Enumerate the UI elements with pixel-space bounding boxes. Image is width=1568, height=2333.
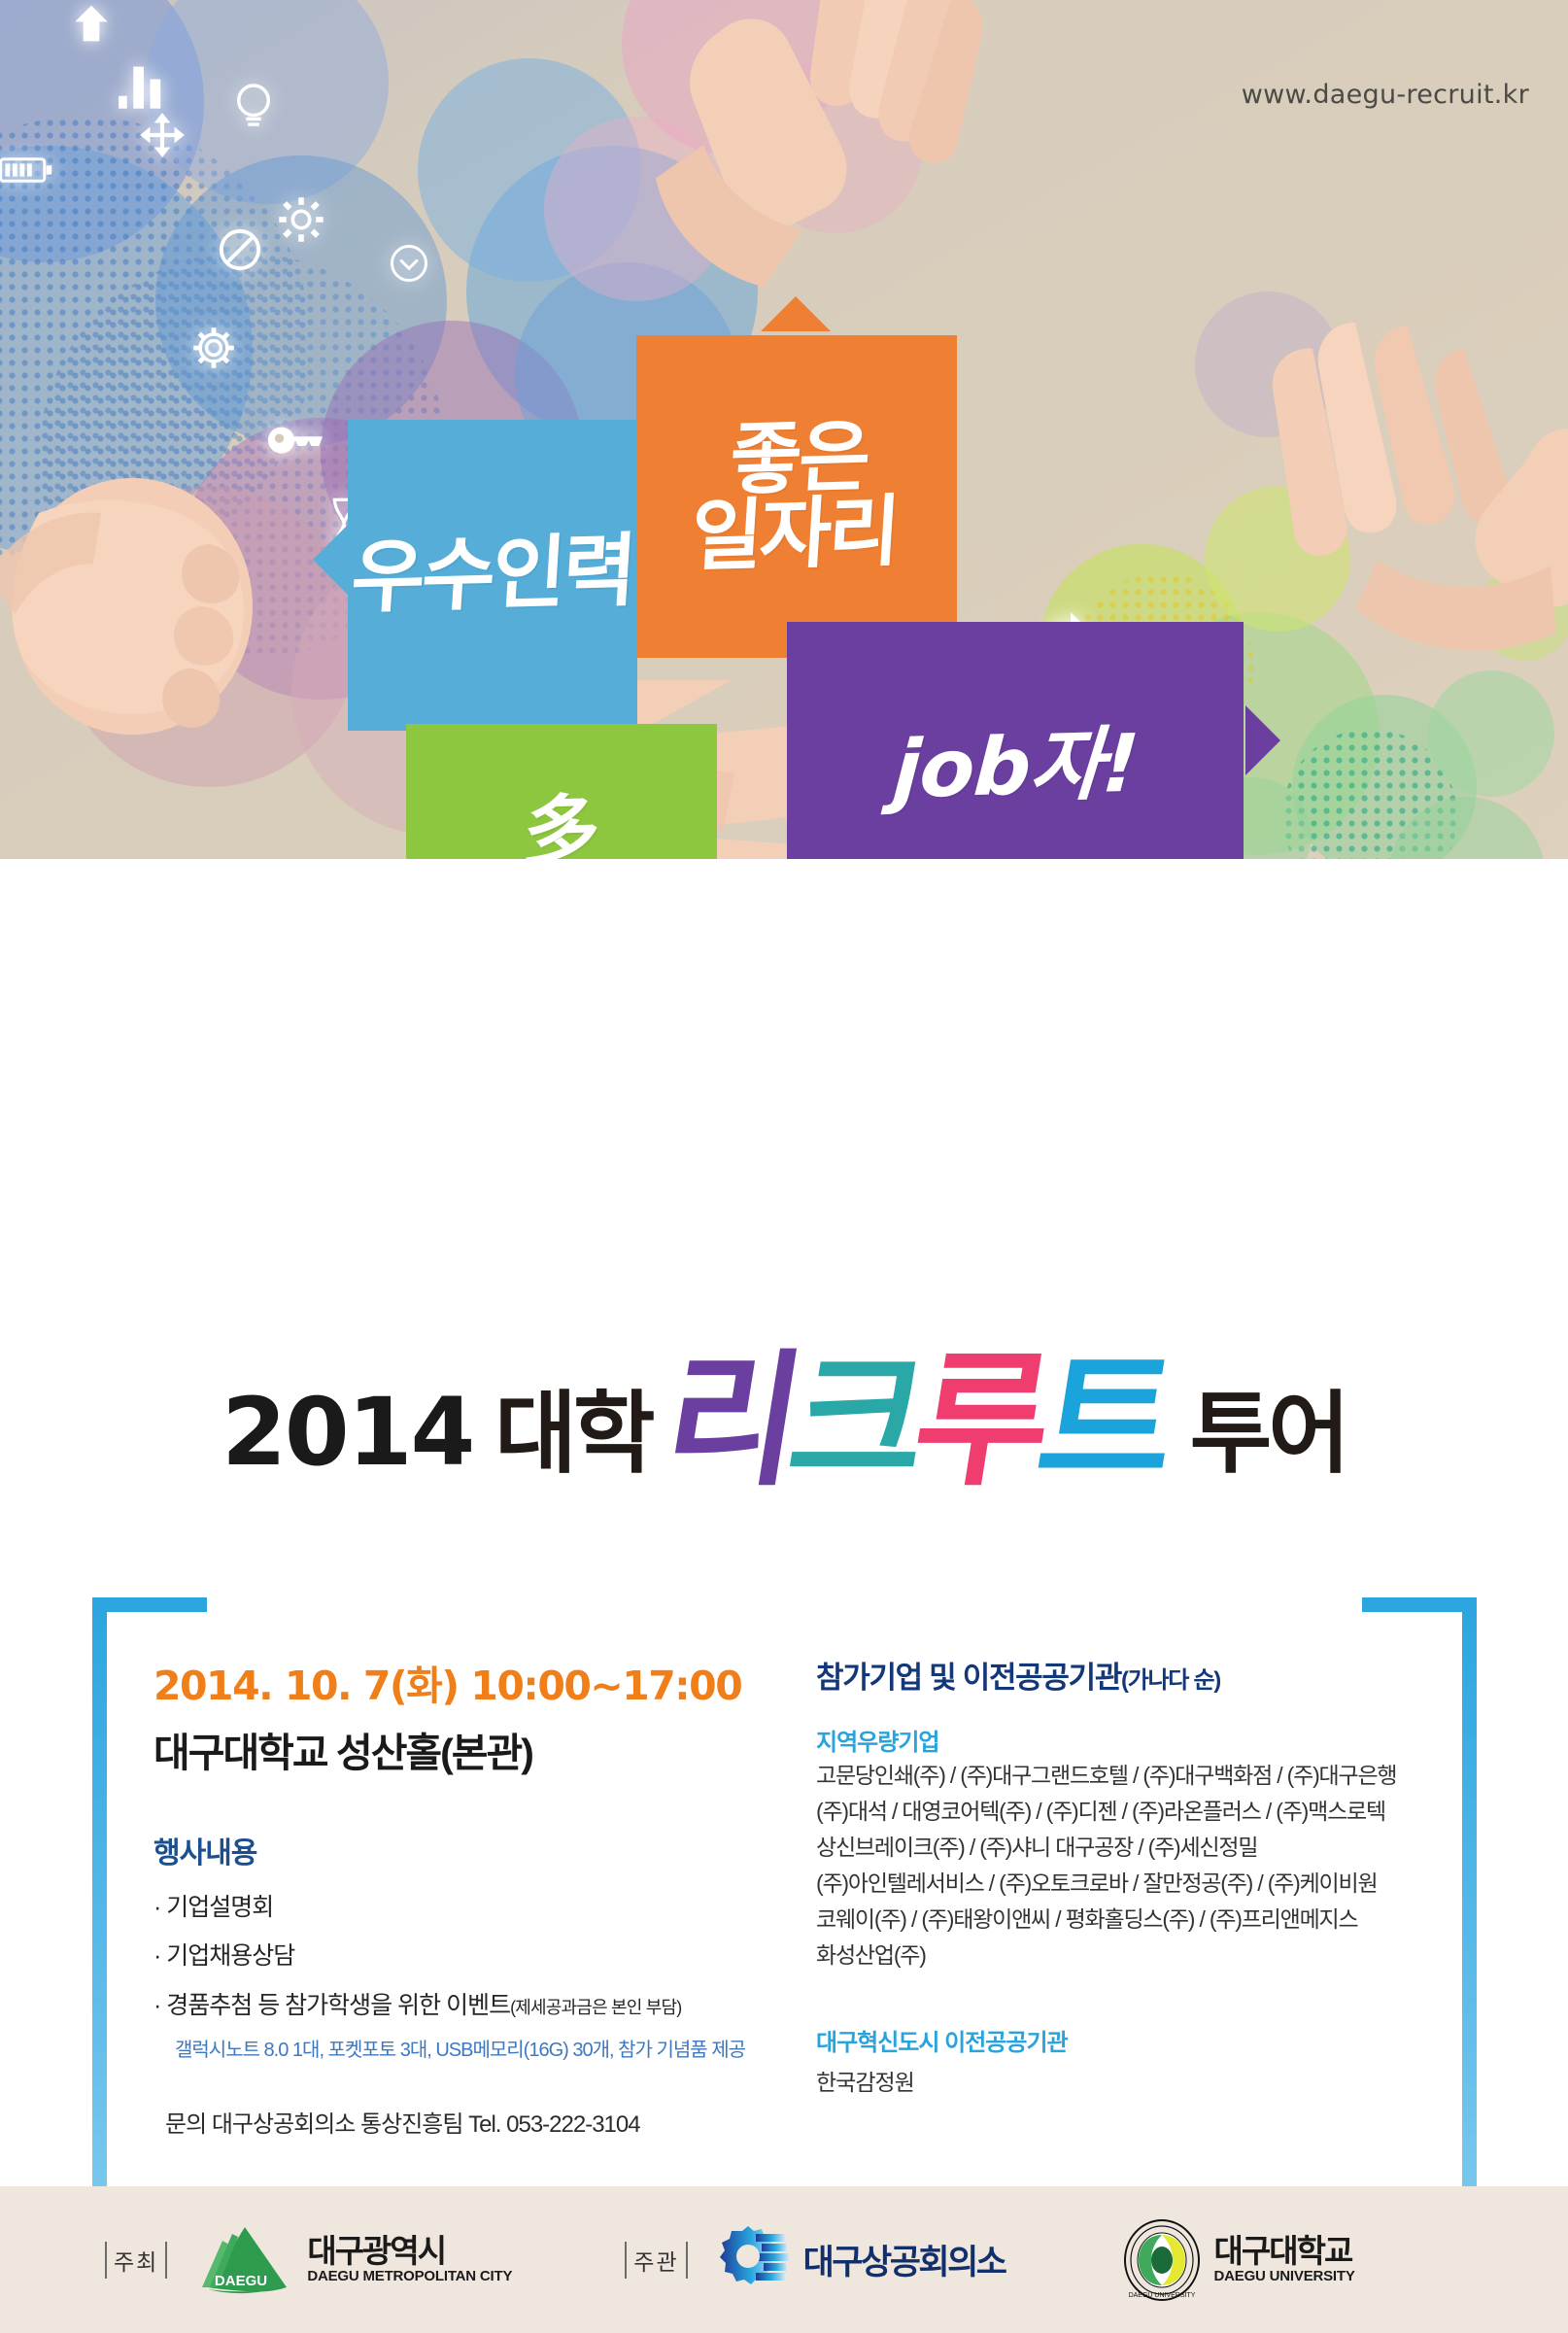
event-bullet-item: 기업설명회 xyxy=(153,1893,756,1923)
event-section-heading: 행사내용 xyxy=(153,1829,756,1871)
speech-bubble-many-text: 多 xyxy=(522,794,602,859)
participants-institution-subheading: 대구혁신도시 이전공공기관 xyxy=(816,2023,1428,2057)
daegu-city-name-kr: 대구광역시 xyxy=(307,2235,512,2269)
footer-host-tag: 주최 xyxy=(105,2242,167,2279)
main-content: 2014 대학 리 크 루 트 투어 2014. 10. 7(화) 10:00~… xyxy=(0,859,1568,2186)
daegu-city-name-en: DAEGU METROPOLITAN CITY xyxy=(307,2268,512,2284)
company-line: 상신브레이크(주) / (주)샤니 대구공장 / (주)세신정밀 xyxy=(816,1831,1428,1865)
hand-left-fist xyxy=(0,428,282,768)
participants-heading: 참가기업 및 이전공공기관(가나다 순) xyxy=(816,1653,1428,1697)
participants-company-subheading: 지역우량기업 xyxy=(816,1723,1428,1757)
svg-text:DAEGU UNIVERSITY: DAEGU UNIVERSITY xyxy=(1128,2292,1195,2299)
footer-organizer-tag: 주관 xyxy=(625,2242,687,2279)
daegu-mountain-icon: DAEGU xyxy=(192,2223,294,2297)
daegu-city-logo: DAEGU 대구광역시 DAEGU METROPOLITAN CITY xyxy=(192,2223,512,2297)
move-arrows-icon xyxy=(136,109,188,161)
title-logo-char-3: 루 xyxy=(905,1359,1049,1485)
company-line: (주)아인텔레서비스 / (주)오토크로바 / 잘만정공(주) / (주)케이비… xyxy=(816,1867,1428,1901)
company-line: 코웨이(주) / (주)태왕이앤씨 / 평화홀딩스(주) / (주)프리앤메지스 xyxy=(816,1903,1428,1937)
event-bullet-text: 기업설명회 xyxy=(166,1894,273,1921)
event-bullet-note: (제세공과금은 본인 부담) xyxy=(510,1998,681,2017)
title-logo-char-4: 트 xyxy=(1030,1359,1174,1485)
gear-icon xyxy=(274,192,328,247)
daegu-university-name-kr: 대구대학교 xyxy=(1214,2235,1355,2269)
battery-icon xyxy=(0,154,56,187)
daegu-university-name: 대구대학교 DAEGU UNIVERSITY xyxy=(1214,2235,1355,2285)
footer-host-group: 주최 DAEGU 대구광역시 DAEGU METROPOLITAN CITY xyxy=(105,2223,512,2297)
event-info-column: 2014. 10. 7(화) 10:00~17:00 대구대학교 성산홀(본관)… xyxy=(153,1653,756,2139)
arrow-up-icon xyxy=(70,2,113,45)
participants-heading-main: 참가기업 및 이전공공기관 xyxy=(816,1661,1121,1695)
company-line: 화성산업(주) xyxy=(816,1938,1428,1973)
bar-chart-icon xyxy=(115,58,173,113)
speech-bubble-goodjob-text: 좋은 일자리 xyxy=(689,418,904,575)
svg-text:DAEGU: DAEGU xyxy=(215,2273,267,2289)
institution-item: 한국감정원 xyxy=(816,2064,1428,2097)
participants-company-list: 고문당인쇄(주) / (주)대구그랜드호텔 / (주)대구백화점 / (주)대구… xyxy=(816,1759,1428,1973)
company-line: 고문당인쇄(주) / (주)대구그랜드호텔 / (주)대구백화점 / (주)대구… xyxy=(816,1759,1428,1793)
title-university-word: 대학 xyxy=(494,1390,651,1479)
event-bullet-item: 기업채용상담 xyxy=(153,1941,756,1972)
event-bullet-item: 경품추첨 등 참가학생을 위한 이벤트(제세공과금은 본인 부담) xyxy=(153,1991,756,2021)
daegu-university-name-en: DAEGU UNIVERSITY xyxy=(1214,2268,1355,2284)
footer-organizer-group: 주관 대구상공회의소 xyxy=(625,2224,1005,2296)
dcci-gear-icon xyxy=(713,2224,791,2296)
speech-bubble-goodjob: 좋은 일자리 xyxy=(636,335,957,658)
cog-icon xyxy=(187,321,241,375)
company-line: (주)대석 / 대영코어텍(주) / (주)디젠 / (주)라온플러스 / (주… xyxy=(816,1795,1428,1829)
participants-heading-note: (가나다 순) xyxy=(1121,1667,1220,1694)
speech-bubble-jobja: job자! xyxy=(787,622,1244,859)
dcci-logo: 대구상공회의소 xyxy=(713,2224,1006,2296)
no-entry-icon xyxy=(216,225,264,274)
title-year: 2014 xyxy=(222,1386,473,1479)
daegu-university-logo: DAEGU UNIVERSITY 대구대학교 DAEGU UNIVERSITY xyxy=(1122,2218,1355,2302)
daegu-university-seal-icon: DAEGU UNIVERSITY xyxy=(1122,2218,1202,2302)
site-url[interactable]: www.daegu-recruit.kr xyxy=(1242,80,1529,110)
hand-right xyxy=(1244,292,1568,680)
event-contact: 문의 대구상공회의소 통상진흥팀 Tel. 053-222-3104 xyxy=(165,2105,756,2139)
daegu-city-name: 대구광역시 DAEGU METROPOLITAN CITY xyxy=(307,2235,512,2285)
event-bullet-text: 기업채용상담 xyxy=(166,1942,294,1970)
dcci-name: 대구상공회의소 xyxy=(803,2235,1006,2284)
decor-bubble xyxy=(1428,670,1554,797)
event-bullet-list: 기업설명회 기업채용상담 경품추첨 등 참가학생을 위한 이벤트(제세공과금은 … xyxy=(153,1893,756,2021)
event-prize-line: 갤럭시노트 8.0 1대, 포켓포토 3대, USB메모리(16G) 30개, … xyxy=(175,2034,756,2062)
title-tour-word: 투어 xyxy=(1190,1390,1346,1479)
speech-bubble-jobja-text: job자! xyxy=(891,726,1140,810)
footer-sponsors: 주최 DAEGU 대구광역시 DAEGU METROPOLITAN CITY 주… xyxy=(0,2186,1568,2333)
participants-column: 참가기업 및 이전공공기관(가나다 순) 지역우량기업 고문당인쇄(주) / (… xyxy=(816,1653,1428,2097)
speech-bubble-talent-text: 우수인력 xyxy=(349,532,635,618)
title-recruit-logo: 리 크 루 트 xyxy=(667,1359,1165,1485)
event-date: 2014. 10. 7(화) 10:00~17:00 xyxy=(153,1653,756,1711)
chevron-down-icon xyxy=(387,241,431,286)
title-logo-char-1: 리 xyxy=(657,1359,801,1485)
event-bullet-text: 경품추첨 등 참가학생을 위한 이벤트 xyxy=(166,1992,510,2019)
dcci-name-kr: 대구상공회의소 xyxy=(803,2235,1006,2284)
speech-bubble-talent: 우수인력 xyxy=(348,420,637,731)
footer-university-group: DAEGU UNIVERSITY 대구대학교 DAEGU UNIVERSITY xyxy=(1122,2218,1355,2302)
page-title: 2014 대학 리 크 루 트 투어 xyxy=(0,1359,1568,1479)
hand-top-right xyxy=(583,0,1030,340)
hero-banner: 우수인력 좋은 일자리 多 job자! www.daegu-recruit.kr xyxy=(0,0,1568,859)
title-logo-char-2: 크 xyxy=(781,1359,925,1485)
event-venue: 대구대학교 성산홀(본관) xyxy=(153,1720,756,1778)
lightbulb-icon xyxy=(231,80,276,132)
speech-bubble-many: 多 xyxy=(406,724,717,859)
